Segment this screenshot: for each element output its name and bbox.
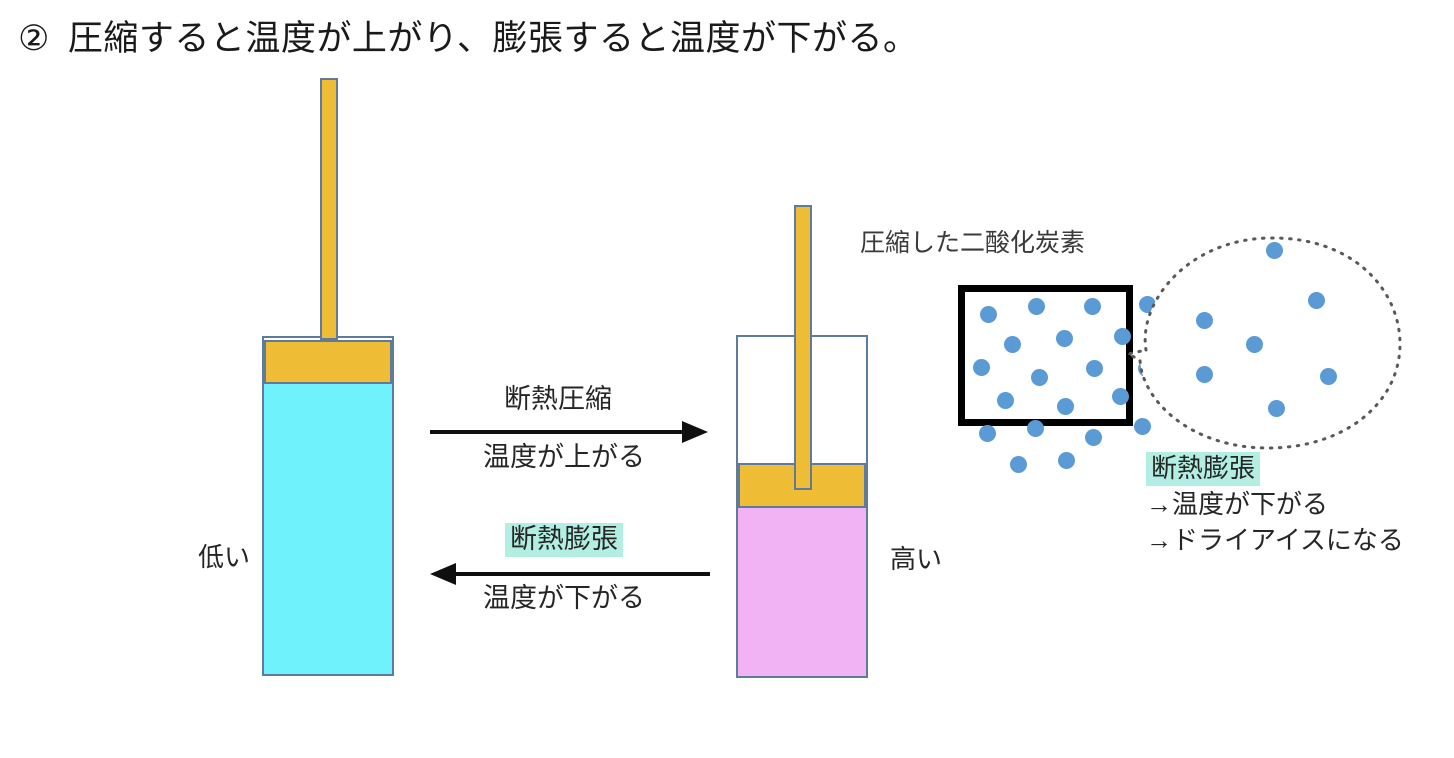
arrow-compression-label-bottom: 温度が上がる bbox=[483, 440, 645, 474]
callout-outline-icon bbox=[1128, 232, 1406, 454]
molecule-dot bbox=[997, 392, 1014, 409]
molecule-dot bbox=[1085, 429, 1102, 446]
arrow-expansion-label-highlight: 断熱膨張 bbox=[505, 523, 623, 557]
slide-canvas: ②圧縮すると温度が上がり、膨張すると温度が下がる。 低い 高い 断熱圧縮 温度が… bbox=[0, 0, 1454, 758]
molecule-dot bbox=[1058, 452, 1075, 469]
expansion-note-line-2: →ドライアイスになる bbox=[1146, 522, 1404, 558]
molecule-dot bbox=[1056, 330, 1073, 347]
expansion-note-line-1: →温度が下がる bbox=[1146, 486, 1404, 522]
cylinder-right-gas-hot bbox=[736, 508, 868, 678]
molecule-box-caption: 圧縮した二酸化炭素 bbox=[860, 228, 1085, 258]
molecule-dot bbox=[980, 306, 997, 323]
cylinder-left-piston bbox=[264, 340, 392, 384]
expansion-notes-heading: 断熱膨張 bbox=[1146, 450, 1404, 486]
callout-molecule-dot bbox=[1268, 400, 1285, 417]
page-title: ②圧縮すると温度が上がり、膨張すると温度が下がる。 bbox=[18, 16, 919, 62]
molecule-dot bbox=[1027, 420, 1044, 437]
temperature-label-low: 低い bbox=[198, 542, 250, 572]
arrow-right-head-icon bbox=[682, 421, 708, 443]
molecule-dot bbox=[1086, 360, 1103, 377]
cylinder-left-cold bbox=[262, 78, 394, 678]
molecule-dot bbox=[1112, 388, 1129, 405]
arrow-compression-shaft bbox=[430, 430, 686, 434]
molecule-dot bbox=[1028, 298, 1045, 315]
arrow-compression-label-top: 断熱圧縮 bbox=[504, 382, 612, 416]
molecule-dot bbox=[979, 425, 996, 442]
callout-molecule-dot bbox=[1246, 336, 1263, 353]
expansion-notes-heading-highlight: 断熱膨張 bbox=[1146, 452, 1260, 486]
cylinder-right-hot bbox=[736, 205, 868, 678]
callout-molecule-dot bbox=[1320, 368, 1337, 385]
callout-molecule-dot bbox=[1196, 366, 1213, 383]
callout-molecule-dot bbox=[1266, 242, 1283, 259]
cylinder-left-piston-rod bbox=[320, 78, 338, 340]
molecule-dot bbox=[1004, 336, 1021, 353]
arrow-left-head-icon bbox=[430, 563, 456, 585]
callout-molecule-dot bbox=[1196, 312, 1213, 329]
molecule-dot bbox=[973, 359, 990, 376]
expansion-notes: 断熱膨張 →温度が下がる →ドライアイスになる bbox=[1146, 450, 1404, 558]
molecule-dot bbox=[1057, 398, 1074, 415]
arrow-expansion-shaft bbox=[454, 572, 710, 576]
temperature-label-high: 高い bbox=[890, 544, 942, 574]
title-number: ② bbox=[18, 16, 50, 62]
arrow-expansion-label-bottom: 温度が下がる bbox=[483, 581, 645, 615]
molecule-dot bbox=[1010, 456, 1027, 473]
cylinder-right-piston-rod bbox=[794, 205, 812, 490]
title-text: 圧縮すると温度が上がり、膨張すると温度が下がる。 bbox=[68, 19, 919, 58]
callout-bubble bbox=[1128, 232, 1406, 454]
arrow-expansion-label-top: 断熱膨張 bbox=[505, 522, 623, 556]
cylinder-left-gas-cold bbox=[262, 384, 394, 676]
callout-molecule-dot bbox=[1308, 292, 1325, 309]
molecule-box bbox=[958, 285, 1133, 426]
molecule-dot bbox=[1031, 369, 1048, 386]
molecule-dot bbox=[1084, 298, 1101, 315]
